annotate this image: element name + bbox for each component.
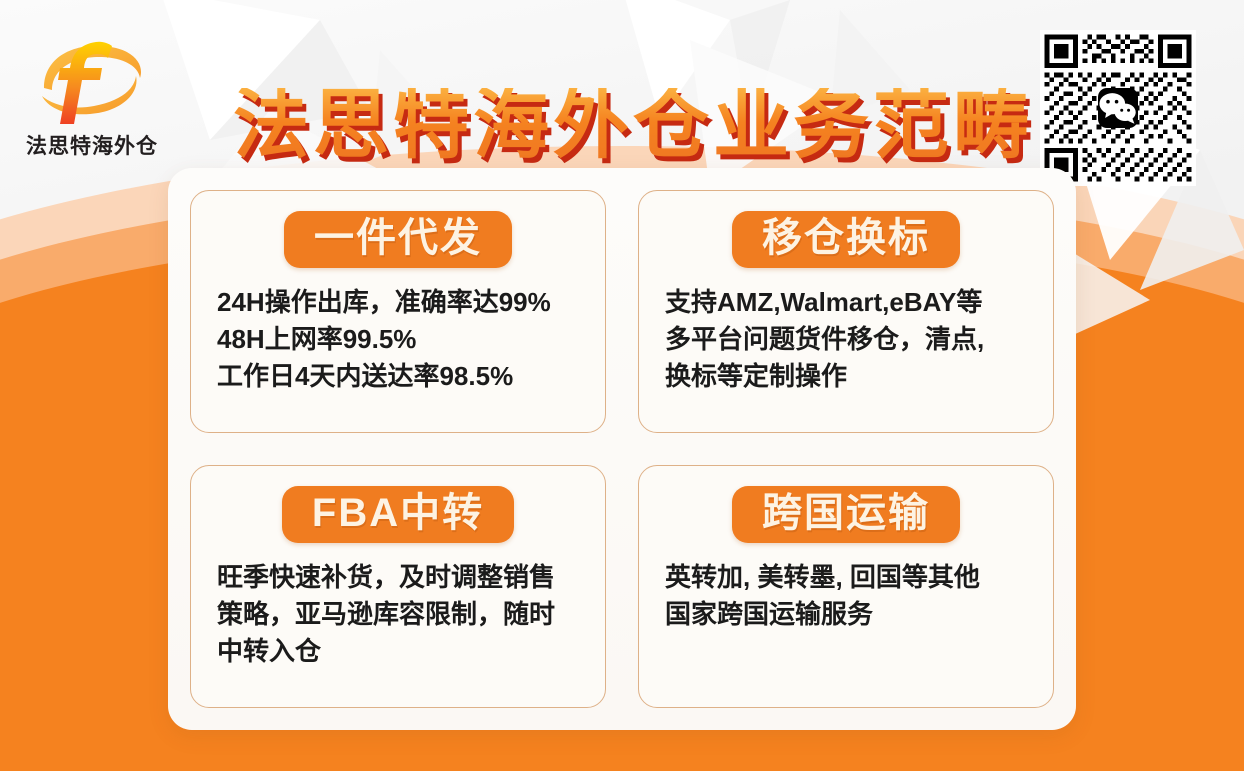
service-description: 24H操作出库，准确率达99% 48H上网率99.5% 工作日4天内送达率98.… bbox=[211, 284, 585, 395]
service-badge: 移仓换标 bbox=[732, 211, 960, 268]
stylized-f-logo-icon bbox=[32, 32, 152, 128]
service-description-line: 多平台问题货件移仓，清点, bbox=[665, 321, 1033, 358]
poster-root: 法思特海外仓 法思特海外仓业务范畴 bbox=[0, 0, 1244, 771]
service-description-line: 策略，亚马逊库容限制，随时 bbox=[217, 596, 585, 633]
brand-logo: 法思特海外仓 bbox=[18, 32, 166, 172]
service-description: 支持AMZ,Walmart,eBAY等 多平台问题货件移仓，清点, 换标等定制操… bbox=[659, 284, 1033, 395]
service-badge-label: 跨国运输 bbox=[762, 493, 930, 533]
service-card-warehouse-transfer-relabel[interactable]: 移仓换标 支持AMZ,Walmart,eBAY等 多平台问题货件移仓，清点, 换… bbox=[638, 190, 1054, 433]
services-grid: 一件代发 24H操作出库，准确率达99% 48H上网率99.5% 工作日4天内送… bbox=[190, 190, 1054, 708]
service-description-line: 中转入仓 bbox=[217, 633, 585, 670]
service-card-cross-border-transport[interactable]: 跨国运输 英转加, 美转墨, 回国等其他 国家跨国运输服务 bbox=[638, 465, 1054, 708]
service-description-line: 支持AMZ,Walmart,eBAY等 bbox=[665, 284, 1033, 321]
wechat-logo-icon bbox=[1098, 88, 1138, 128]
service-description: 英转加, 美转墨, 回国等其他 国家跨国运输服务 bbox=[659, 559, 1033, 633]
service-description-line: 国家跨国运输服务 bbox=[665, 596, 1033, 633]
page-title: 法思特海外仓业务范畴 bbox=[238, 74, 1028, 178]
service-badge-label: 一件代发 bbox=[314, 218, 482, 258]
service-description-line: 换标等定制操作 bbox=[665, 358, 1033, 395]
brand-name: 法思特海外仓 bbox=[18, 130, 166, 160]
service-description-line: 24H操作出库，准确率达99% bbox=[217, 284, 585, 321]
service-badge: 一件代发 bbox=[284, 211, 512, 268]
service-badge-label: FBA中转 bbox=[312, 493, 484, 533]
service-description-line: 工作日4天内送达率98.5% bbox=[217, 358, 585, 395]
service-description-line: 英转加, 美转墨, 回国等其他 bbox=[665, 559, 1033, 596]
service-badge: FBA中转 bbox=[282, 486, 514, 543]
service-card-one-piece-dropshipping[interactable]: 一件代发 24H操作出库，准确率达99% 48H上网率99.5% 工作日4天内送… bbox=[190, 190, 606, 433]
service-description-line: 48H上网率99.5% bbox=[217, 321, 585, 358]
service-description: 旺季快速补货，及时调整销售 策略，亚马逊库容限制，随时 中转入仓 bbox=[211, 559, 585, 670]
service-card-fba-transfer[interactable]: FBA中转 旺季快速补货，及时调整销售 策略，亚马逊库容限制，随时 中转入仓 bbox=[190, 465, 606, 708]
service-badge: 跨国运输 bbox=[732, 486, 960, 543]
page-title-text: 法思特海外仓业务范畴 bbox=[233, 88, 1033, 164]
service-badge-label: 移仓换标 bbox=[762, 218, 930, 258]
service-description-line: 旺季快速补货，及时调整销售 bbox=[217, 559, 585, 596]
wechat-qr-code-icon[interactable] bbox=[1040, 30, 1196, 186]
services-panel: 一件代发 24H操作出库，准确率达99% 48H上网率99.5% 工作日4天内送… bbox=[168, 168, 1076, 730]
